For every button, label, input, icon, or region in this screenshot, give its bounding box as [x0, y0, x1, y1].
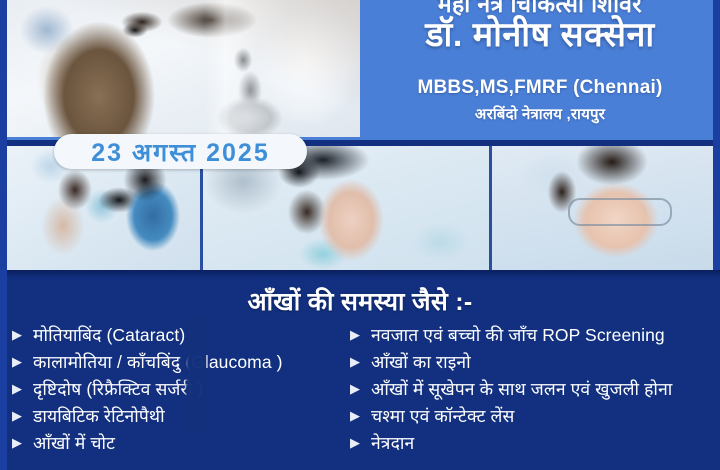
service-item: ▶नवजात एवं बच्चो की जाँच ROP Screening [350, 323, 716, 350]
doctor-name: डॉ. मोनीष सक्सेना [360, 16, 720, 54]
doctor-qualifications: MBBS,MS,FMRF (Chennai) [360, 77, 720, 99]
services-left-column: ▶मोतियाबिंद (Cataract)▶कालामोतिया / काँच… [12, 323, 352, 458]
service-item-label: दृष्टिदोष (रिफ्रैक्टिव सर्जरी ) [33, 377, 203, 401]
service-item: ▶चश्मा एवं कॉन्टेक्ट लेंस [350, 404, 716, 431]
service-item-label: चश्मा एवं कॉन्टेक्ट लेंस [371, 404, 514, 428]
header-text-block: महा नेत्र चिकित्सा शिविर डॉ. मोनीष सक्से… [360, 0, 720, 146]
service-item-label: कालामोतिया / काँचबिंदु (Glaucoma ) [33, 350, 283, 374]
bullet-arrow-icon: ▶ [350, 382, 366, 395]
photo-eye-exam-slit-lamp [7, 0, 360, 137]
service-item: ▶आँखों में सूखेपन के साथ जलन एवं खुजली ह… [350, 377, 716, 404]
service-item-label: नवजात एवं बच्चो की जाँच ROP Screening [371, 323, 665, 347]
services-section: आँखों की समस्या जैसे :- ▶मोतियाबिंद (Cat… [0, 270, 720, 470]
poster-right-edge [713, 0, 720, 270]
bullet-arrow-icon: ▶ [350, 436, 366, 449]
bullet-arrow-icon: ▶ [350, 409, 366, 422]
event-date-text: 23 अगस्त 2025 [91, 135, 269, 169]
service-item: ▶आँखों में चोट [12, 431, 352, 458]
header-band: महा नेत्र चिकित्सा शिविर डॉ. मोनीष सक्से… [0, 0, 720, 140]
hospital-name: अरबिंदो नेत्रालय ,रायपुर [360, 104, 720, 124]
service-item-label: मोतियाबिंद (Cataract) [33, 323, 185, 347]
services-title: आँखों की समस्या जैसे :- [0, 284, 720, 318]
service-item: ▶नेत्रदान [350, 431, 716, 458]
service-item: ▶आँखों का राइनो [350, 350, 716, 377]
photo-child-with-glasses [492, 146, 713, 270]
service-item: ▶दृष्टिदोष (रिफ्रैक्टिव सर्जरी ) [12, 377, 352, 404]
service-item: ▶डायबिटिक रेटिनोपैथी [12, 404, 352, 431]
eye-camp-poster: महा नेत्र चिकित्सा शिविर डॉ. मोनीष सक्से… [0, 0, 720, 470]
bullet-arrow-icon: ▶ [12, 382, 28, 395]
bullet-arrow-icon: ▶ [12, 436, 28, 449]
services-right-column: ▶नवजात एवं बच्चो की जाँच ROP Screening▶आ… [350, 323, 716, 458]
poster-left-edge [0, 0, 7, 470]
event-date-badge: 23 अगस्त 2025 [54, 134, 307, 169]
bullet-arrow-icon: ▶ [12, 328, 28, 341]
bullet-arrow-icon: ▶ [12, 355, 28, 368]
service-item-label: आँखों का राइनो [371, 350, 471, 374]
bullet-arrow-icon: ▶ [350, 328, 366, 341]
service-item-label: आँखों में चोट [33, 431, 115, 455]
service-item: ▶मोतियाबिंद (Cataract) [12, 323, 352, 350]
service-item-label: नेत्रदान [371, 431, 414, 455]
service-item: ▶कालामोतिया / काँचबिंदु (Glaucoma ) [12, 350, 352, 377]
service-item-label: डायबिटिक रेटिनोपैथी [33, 404, 165, 428]
image-artifact-overlay [186, 318, 206, 430]
bullet-arrow-icon: ▶ [12, 409, 28, 422]
service-item-label: आँखों में सूखेपन के साथ जलन एवं खुजली हो… [371, 377, 672, 401]
bullet-arrow-icon: ▶ [350, 355, 366, 368]
